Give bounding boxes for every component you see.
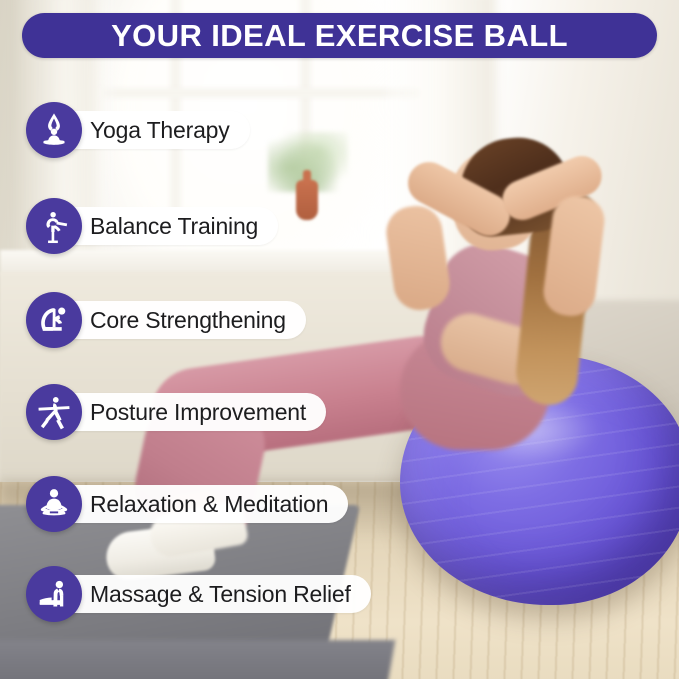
meditation-lotus-icon (26, 476, 82, 532)
header-banner: YOUR IDEAL EXERCISE BALL (22, 13, 657, 58)
balance-dancer-pose-icon (26, 198, 82, 254)
massage-lying-icon (26, 566, 82, 622)
feature-label: Core Strengthening (44, 301, 306, 339)
feature-item-balance-training: Balance Training (26, 196, 278, 256)
feature-item-yoga-therapy: Yoga Therapy (26, 100, 250, 160)
feature-item-massage-tension-relief: Massage & Tension Relief (26, 564, 371, 624)
warrior-pose-icon (26, 384, 82, 440)
feature-label: Relaxation & Meditation (44, 485, 348, 523)
feature-item-posture-improvement: Posture Improvement (26, 382, 326, 442)
page-title: YOUR IDEAL EXERCISE BALL (111, 18, 568, 54)
feature-item-core-strengthening: Core Strengthening (26, 290, 306, 350)
feature-item-relaxation-meditation: Relaxation & Meditation (26, 474, 348, 534)
feature-label: Posture Improvement (44, 393, 326, 431)
feature-label: Massage & Tension Relief (44, 575, 371, 613)
feature-list: Yoga Therapy Balance Training (0, 0, 679, 679)
core-crunch-icon (26, 292, 82, 348)
yoga-lotus-arms-up-icon (26, 102, 82, 158)
